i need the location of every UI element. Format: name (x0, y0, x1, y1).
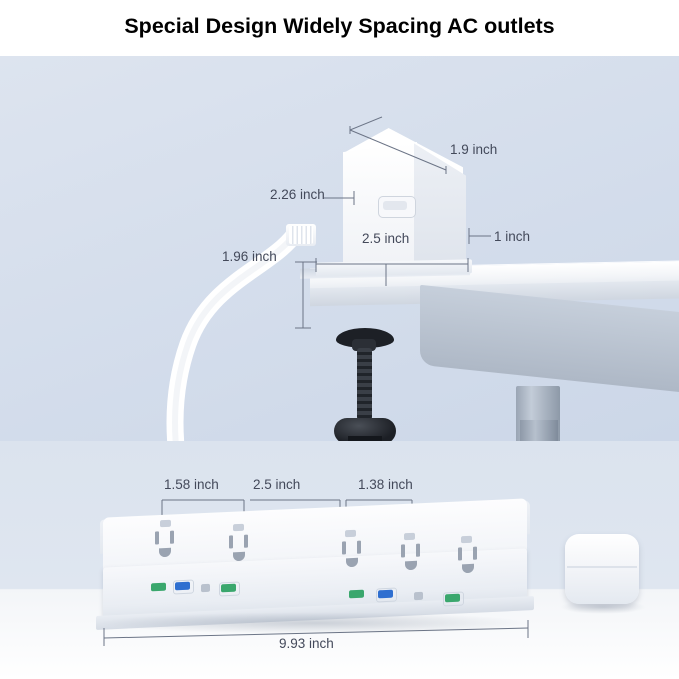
dimension-label-9-93-inch: 9.93 inch (279, 636, 334, 651)
indicator-2 (233, 524, 244, 531)
dimension-label-1-58-inch: 1.58 inch (164, 477, 219, 492)
usb-port-5-usb-c (349, 590, 364, 599)
outlet-ground (462, 564, 474, 574)
dimension-label-1-inch: 1 inch (494, 229, 530, 244)
outlet-2 (220, 534, 260, 572)
outlet-slot-left (155, 531, 159, 544)
product-infographic: Special Design Widely Spacing AC outlets (0, 0, 679, 679)
usb-port-1-usb-c (151, 583, 166, 592)
dimension-label-2-5-inch-spacing: 2.5 inch (253, 477, 300, 492)
outlet-ground (233, 552, 245, 562)
outlet-1 (146, 530, 186, 568)
earbuds-case-seam (567, 566, 637, 568)
outlet-slot-right (170, 531, 174, 544)
usb-port-6-usb-a (378, 590, 393, 599)
indicator-5 (461, 536, 472, 543)
outlet-slot-right (473, 547, 477, 560)
usb-port-7-small (414, 592, 423, 600)
outlet-4 (392, 543, 432, 581)
desk-leg-lower (520, 420, 558, 441)
dimension-line-2-5-inch (300, 256, 480, 304)
outlet-5 (449, 546, 489, 584)
indicator-1 (160, 520, 171, 527)
outlet-slot-left (229, 535, 233, 548)
dimension-label-1-96-inch: 1.96 inch (222, 249, 277, 264)
outlet-slot-right (357, 541, 361, 554)
clamp-screw (357, 348, 372, 420)
outlet-slot-right (244, 535, 248, 548)
outlet-slot-left (342, 541, 346, 554)
usb-port-4-usb-c (221, 584, 236, 593)
indicator-3 (345, 530, 356, 537)
dimension-line-1-96-inch (205, 206, 325, 336)
dimension-label-1-9-inch: 1.9 inch (450, 142, 497, 157)
earbuds-case (565, 534, 639, 604)
outlet-3 (333, 540, 373, 578)
usb-port-2-usb-a (175, 582, 190, 591)
usb-port-3-small (201, 584, 210, 592)
dimension-label-1-38-inch: 1.38 inch (358, 477, 413, 492)
indicator-4 (404, 533, 415, 540)
page-title: Special Design Widely Spacing AC outlets (0, 14, 679, 39)
outlet-slot-left (458, 547, 462, 560)
top-scene-desk-clamp: 1.9 inch 2.26 inch 1 inch 2.5 inch 1 (0, 56, 679, 441)
power-switch-rocker (383, 201, 407, 210)
dimension-label-2-26-inch: 2.26 inch (270, 187, 325, 202)
outlet-ground (159, 548, 171, 558)
outlet-ground (405, 561, 417, 571)
dimension-label-2-5-inch: 2.5 inch (362, 231, 409, 246)
usb-port-8-usb-c (445, 594, 460, 603)
outlet-slot-left (401, 544, 405, 557)
outlet-ground (346, 558, 358, 568)
outlet-slot-right (416, 544, 420, 557)
